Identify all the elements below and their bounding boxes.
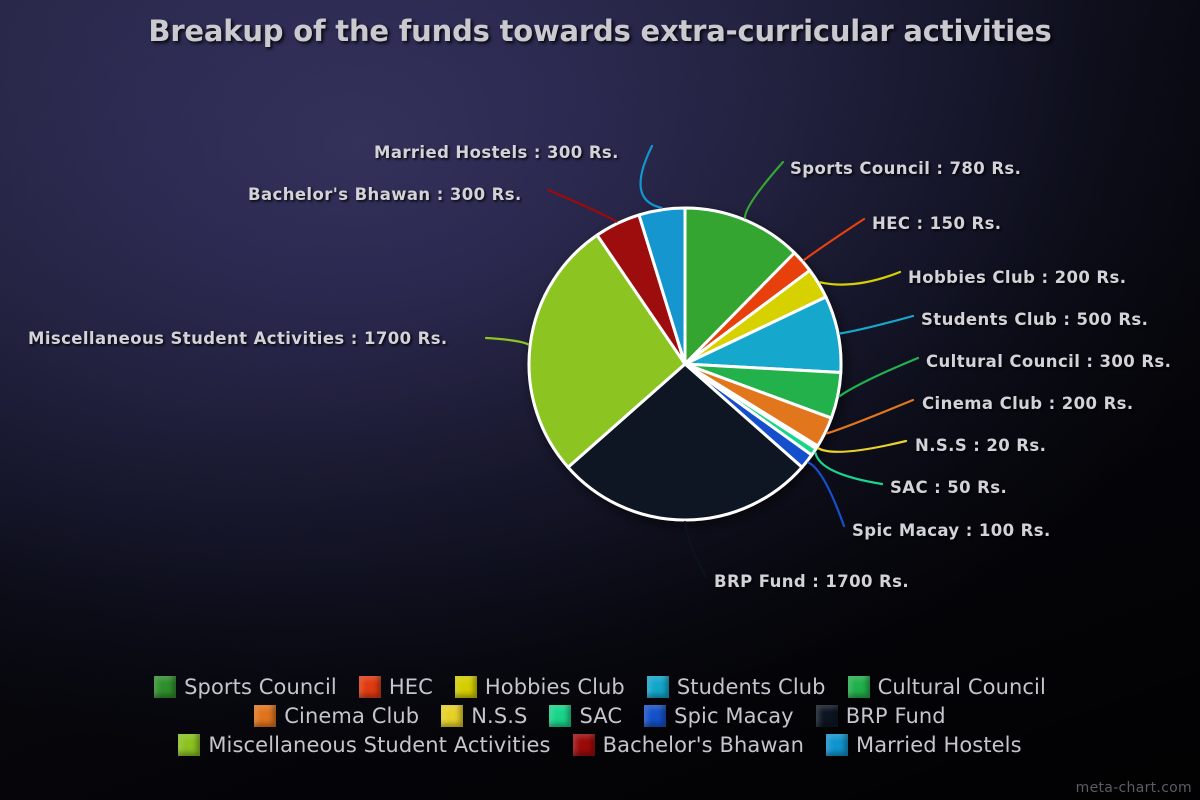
- callout-students-club: Students Club : 500 Rs.: [921, 310, 1148, 329]
- leader-line: [804, 219, 864, 260]
- legend-item[interactable]: HEC: [359, 675, 433, 699]
- leader-line: [745, 162, 783, 218]
- callout-sac: SAC : 50 Rs.: [890, 478, 1007, 497]
- legend-row: Miscellaneous Student ActivitiesBachelor…: [0, 730, 1200, 759]
- leader-line: [548, 190, 616, 222]
- legend-item-label: SAC: [579, 704, 622, 728]
- legend-item-label: Hobbies Club: [485, 675, 625, 699]
- legend-item-label: Miscellaneous Student Activities: [208, 733, 550, 757]
- callout-hobbies-club: Hobbies Club : 200 Rs.: [908, 268, 1126, 287]
- legend-item-label: Cinema Club: [284, 704, 419, 728]
- leader-line: [819, 441, 906, 452]
- legend-item-label: Bachelor's Bhawan: [603, 733, 804, 757]
- legend-swatch-icon: [573, 734, 595, 756]
- legend-item-label: HEC: [389, 675, 433, 699]
- legend-item-label: Spic Macay: [674, 704, 794, 728]
- callout-sports-council: Sports Council : 780 Rs.: [790, 159, 1021, 178]
- callout-brp-fund: BRP Fund : 1700 Rs.: [714, 572, 909, 591]
- leader-line: [486, 338, 528, 344]
- legend-item-label: Students Club: [677, 675, 826, 699]
- leader-line: [641, 146, 662, 208]
- legend-swatch-icon: [816, 705, 838, 727]
- legend-swatch-icon: [644, 705, 666, 727]
- legend-swatch-icon: [154, 676, 176, 698]
- legend-swatch-icon: [549, 705, 571, 727]
- legend-item[interactable]: N.S.S: [441, 704, 527, 728]
- legend-item-label: Cultural Council: [878, 675, 1046, 699]
- legend-row: Sports CouncilHECHobbies ClubStudents Cl…: [0, 672, 1200, 701]
- legend-swatch-icon: [826, 734, 848, 756]
- legend-item[interactable]: SAC: [549, 704, 622, 728]
- callout-misc-student-activities: Miscellaneous Student Activities : 1700 …: [28, 329, 448, 348]
- legend-swatch-icon: [441, 705, 463, 727]
- legend-item[interactable]: Cinema Club: [254, 704, 419, 728]
- callout-nss: N.S.S : 20 Rs.: [915, 436, 1046, 455]
- leader-line: [840, 316, 913, 334]
- legend-item[interactable]: Sports Council: [154, 675, 337, 699]
- callout-bachelors-bhawan: Bachelor's Bhawan : 300 Rs.: [248, 185, 522, 204]
- chart-canvas: Breakup of the funds towards extra-curri…: [0, 0, 1200, 800]
- legend-item[interactable]: Cultural Council: [848, 675, 1046, 699]
- legend-swatch-icon: [254, 705, 276, 727]
- callout-cinema-club: Cinema Club : 200 Rs.: [922, 394, 1134, 413]
- leader-line: [685, 522, 706, 577]
- legend-swatch-icon: [359, 676, 381, 698]
- legend-item-label: Married Hostels: [856, 733, 1022, 757]
- legend-swatch-icon: [848, 676, 870, 698]
- legend-item[interactable]: Spic Macay: [644, 704, 794, 728]
- legend-item[interactable]: Married Hostels: [826, 733, 1022, 757]
- legend-row: Cinema ClubN.S.SSACSpic MacayBRP Fund: [0, 701, 1200, 730]
- legend-item[interactable]: Bachelor's Bhawan: [573, 733, 804, 757]
- legend-item-label: Sports Council: [184, 675, 337, 699]
- leader-line: [827, 400, 913, 433]
- leader-line: [820, 272, 900, 285]
- callout-hec: HEC : 150 Rs.: [872, 214, 1001, 233]
- legend-item-label: N.S.S: [471, 704, 527, 728]
- callout-cultural-council: Cultural Council : 300 Rs.: [926, 352, 1171, 371]
- legend-item[interactable]: BRP Fund: [816, 704, 946, 728]
- watermark: meta-chart.com: [1076, 780, 1192, 796]
- legend-item[interactable]: Miscellaneous Student Activities: [178, 733, 550, 757]
- legend-item-label: BRP Fund: [846, 704, 946, 728]
- leader-line: [816, 453, 883, 484]
- legend-swatch-icon: [178, 734, 200, 756]
- callout-spic-macay: Spic Macay : 100 Rs.: [852, 521, 1051, 540]
- leader-line: [840, 358, 918, 396]
- pie-slices: [529, 208, 841, 520]
- legend-item[interactable]: Students Club: [647, 675, 826, 699]
- legend-item[interactable]: Hobbies Club: [455, 675, 625, 699]
- legend-swatch-icon: [647, 676, 669, 698]
- legend: Sports CouncilHECHobbies ClubStudents Cl…: [0, 672, 1200, 759]
- callout-married-hostels: Married Hostels : 300 Rs.: [374, 143, 619, 162]
- legend-swatch-icon: [455, 676, 477, 698]
